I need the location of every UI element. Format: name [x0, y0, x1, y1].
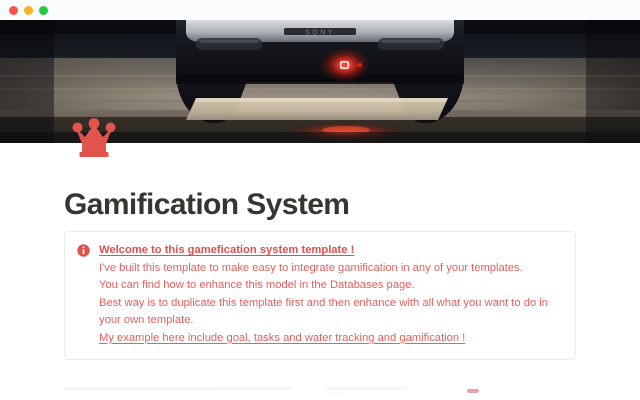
minimize-window-button[interactable] — [24, 6, 33, 15]
maximize-window-button[interactable] — [39, 6, 48, 15]
page-title[interactable]: Gamification System — [64, 188, 564, 223]
callout-block[interactable]: Welcome to this gamefication system temp… — [64, 231, 576, 360]
crown-icon[interactable] — [72, 118, 116, 160]
window-titlebar — [0, 0, 640, 20]
placeholder-line-3 — [325, 387, 407, 390]
below-fold-section — [0, 381, 640, 400]
callout-line-2: You can find how to enhance this model i… — [99, 277, 563, 295]
close-window-button[interactable] — [9, 6, 18, 15]
svg-text:SONY: SONY — [305, 30, 335, 37]
callout-line-3: Best way is to duplicate this template f… — [99, 295, 563, 330]
callout-text: Welcome to this gamefication system temp… — [99, 242, 563, 347]
placeholder-accent-mark — [467, 389, 479, 393]
info-icon — [77, 244, 90, 257]
placeholder-line-4 — [330, 392, 344, 394]
callout-line-link[interactable]: My example here include goal, tasks and … — [99, 330, 563, 348]
callout-line-heading[interactable]: Welcome to this gamefication system temp… — [99, 242, 563, 260]
notion-window: SONY — [0, 0, 640, 400]
placeholder-line-2 — [210, 387, 292, 390]
page-body: Gamification System Welcome to this game… — [0, 143, 640, 400]
callout-line-1: I've built this template to make easy to… — [99, 260, 563, 278]
window-traffic-lights — [9, 6, 48, 15]
